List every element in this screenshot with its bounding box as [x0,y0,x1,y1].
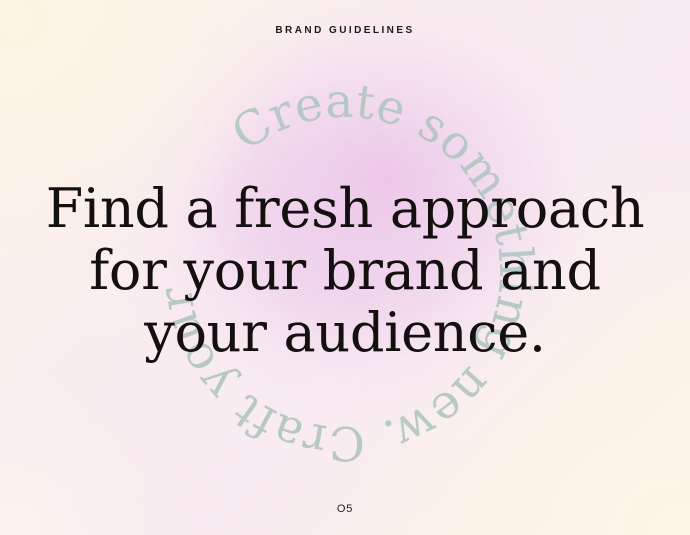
headline-line-1: Find a fresh approach [16,178,674,240]
headline-line-2: for your brand and [16,240,674,302]
eyebrow-label: BRAND GUIDELINES [0,25,690,36]
slide-canvas: Create something new. Craft your aesthet… [0,0,690,535]
headline-line-3: your audience. [16,302,674,364]
page-title: Find a fresh approach for your brand and… [0,178,690,363]
page-number: O5 [0,503,690,515]
